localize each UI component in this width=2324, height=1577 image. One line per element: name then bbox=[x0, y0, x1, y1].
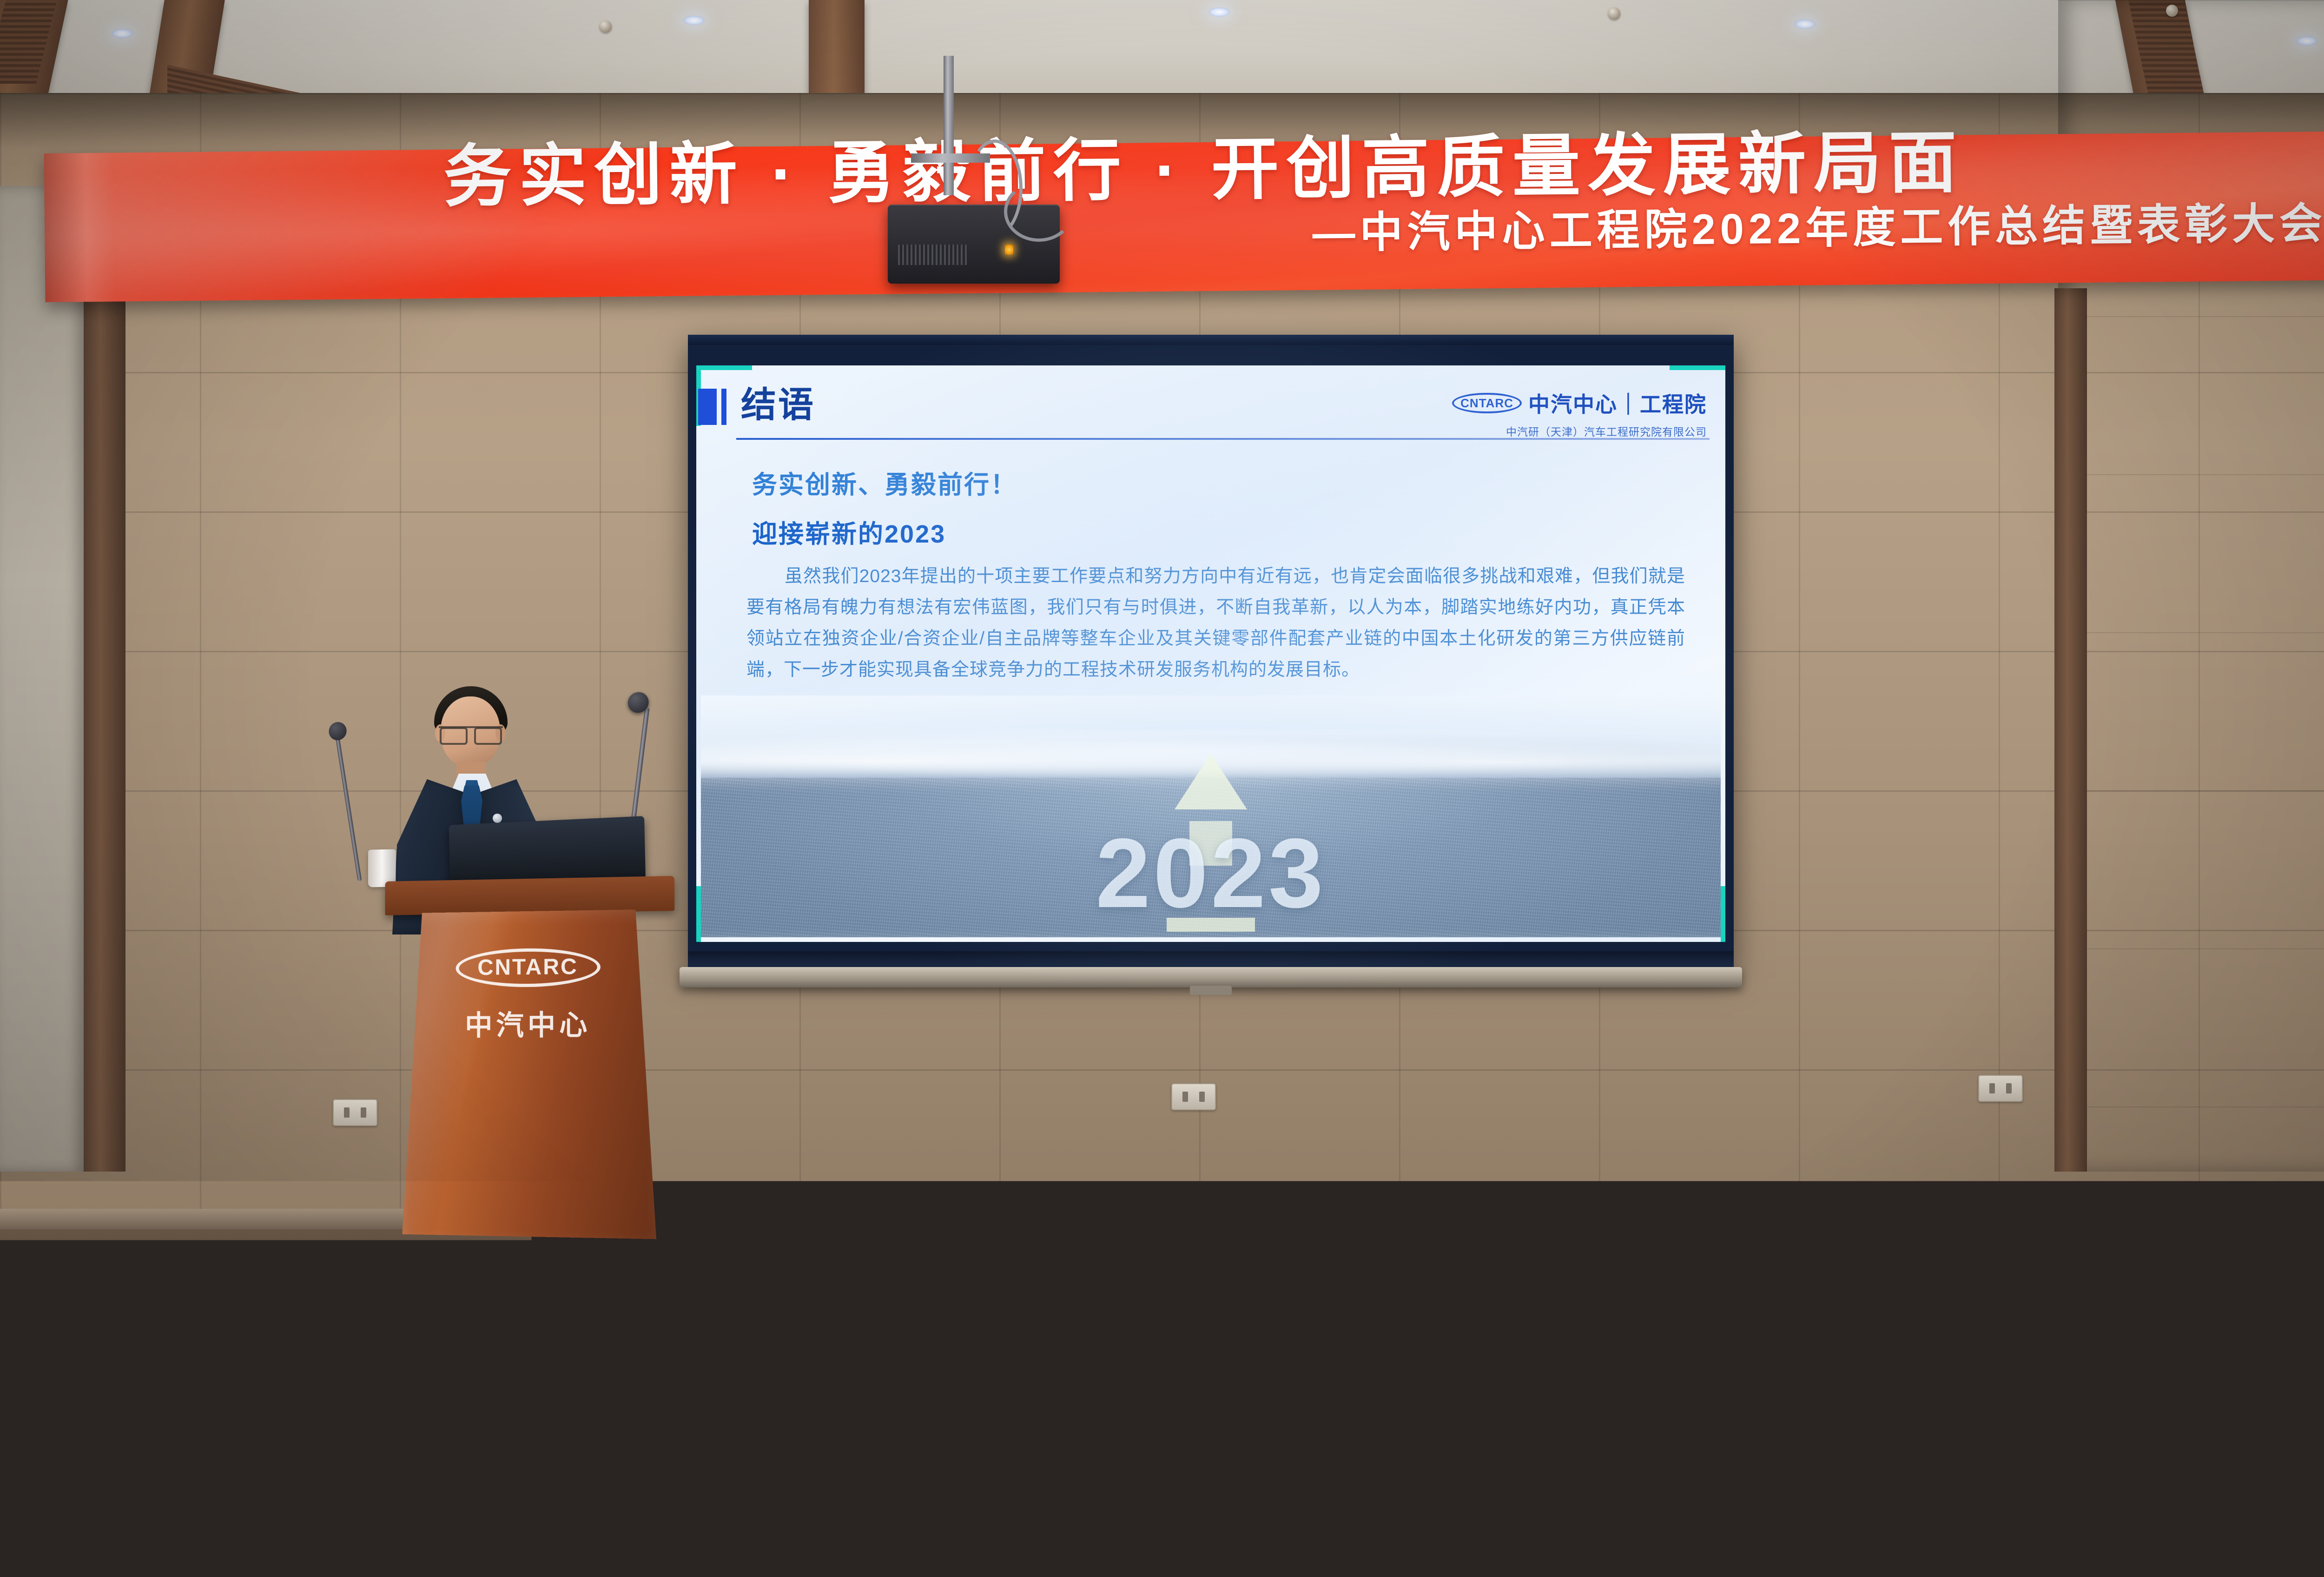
screen-top-bar bbox=[688, 335, 1734, 345]
foreground-table bbox=[0, 1260, 135, 1455]
screen-roller-housing bbox=[680, 967, 1742, 987]
speaker-lapel-pin-icon bbox=[493, 814, 502, 823]
podium-cntarc-oval-icon: CNTARC bbox=[456, 948, 600, 987]
road-forward-arrow-icon bbox=[1175, 754, 1247, 809]
ceiling-sprinkler-1 bbox=[600, 20, 612, 33]
watermark-text: 中汽中心｜工程院 bbox=[2170, 1531, 2324, 1561]
audience-head bbox=[1464, 1433, 1563, 1528]
ceiling-downlight-4 bbox=[1794, 20, 1816, 29]
seat-headrest bbox=[1053, 1329, 1317, 1345]
seat-headrest bbox=[585, 1431, 883, 1447]
water-bottle bbox=[1636, 1252, 1652, 1304]
water-bottle bbox=[786, 1463, 804, 1523]
seat-headrest bbox=[2150, 1233, 2324, 1249]
audience-head bbox=[683, 1229, 760, 1303]
water-bottle bbox=[510, 1354, 526, 1406]
slide-heading-1: 务实创新、勇毅前行！ bbox=[752, 464, 1017, 501]
table-row bbox=[2153, 1245, 2324, 1328]
banner-subline: —中汽中心工程院2022年度工作总结暨表彰大会 bbox=[45, 202, 2324, 267]
podium: CNTARC 中汽中心 bbox=[395, 876, 664, 1239]
podium-logo: CNTARC 中汽中心 bbox=[395, 947, 664, 1044]
screen-bottom-bar bbox=[688, 951, 1734, 967]
slide-header: 结语 CNTARC 中汽中心｜工程院 中汽研（天津）汽车工程研究院有限公司 bbox=[696, 383, 1710, 439]
audience-head bbox=[2106, 1339, 2189, 1417]
wall-column-left bbox=[84, 260, 125, 1172]
slide-accent-top-left bbox=[696, 365, 752, 370]
audience-head bbox=[967, 1432, 1066, 1528]
water-bottle bbox=[1673, 1353, 1689, 1405]
ceiling-sprinkler-2 bbox=[1608, 7, 1620, 20]
printed-handout bbox=[838, 1333, 905, 1426]
watermark: CNTARC 中汽中心｜工程院 bbox=[2095, 1531, 2324, 1561]
ceiling-downlight-2 bbox=[683, 16, 705, 25]
audience-head bbox=[200, 1233, 274, 1303]
printed-handout bbox=[908, 1238, 975, 1330]
face-mask-icon bbox=[2008, 1557, 2048, 1577]
conference-photo-scene: 务实创新 · 勇毅前行 · 开创高质量发展新局面 —中汽中心工程院2022年度工… bbox=[0, 0, 2324, 1577]
wall-outlet-center bbox=[1171, 1083, 1216, 1110]
ceiling-downlight-1 bbox=[112, 29, 133, 38]
wall-outlet-left bbox=[333, 1099, 377, 1126]
slide-title: 结语 bbox=[741, 387, 815, 424]
ceiling-downlight-3 bbox=[1208, 7, 1230, 17]
water-bottle bbox=[1227, 1351, 1243, 1403]
slide-accent-bottom-left bbox=[696, 886, 701, 942]
slide-accent-bottom-right bbox=[1721, 886, 1725, 942]
projector-cable-2 bbox=[1004, 181, 1074, 242]
audience-head bbox=[1422, 1323, 1508, 1406]
slide-paragraph: 虽然我们2023年提出的十项主要工作要点和努力方向中有近有远，也肯定会面临很多挑… bbox=[746, 561, 1685, 685]
slide-logo-name: 中汽中心｜工程院 bbox=[1528, 388, 1707, 418]
audience-head bbox=[1371, 1256, 1441, 1316]
road-lane-dash bbox=[1167, 918, 1255, 932]
brass-nameplate bbox=[186, 1251, 242, 1266]
seat-headrest bbox=[1187, 1431, 1485, 1447]
audience-head bbox=[1143, 1224, 1222, 1299]
audience-head bbox=[325, 1338, 404, 1411]
audience-head bbox=[1246, 1344, 1325, 1416]
printed-handout bbox=[1838, 1340, 1904, 1432]
event-banner: 务实创新 · 勇毅前行 · 开创高质量发展新局面 —中汽中心工程院2022年度工… bbox=[44, 131, 2324, 302]
seat-headrest bbox=[1909, 1233, 2146, 1249]
seat-headrest bbox=[1789, 1431, 2086, 1447]
wall-stone-left bbox=[0, 186, 84, 1172]
seat-headrest bbox=[1187, 1233, 1424, 1249]
projector-mount-rod bbox=[944, 56, 954, 195]
water-bottle bbox=[1190, 1249, 1206, 1301]
seat-headrest bbox=[1588, 1329, 1852, 1345]
screen-roller-knob bbox=[1190, 986, 1232, 995]
road-year-text: 2023 bbox=[1096, 816, 1326, 930]
slide-title-marker-thin bbox=[721, 389, 726, 425]
audience-head bbox=[1227, 1447, 1320, 1535]
audience-head bbox=[2194, 1449, 2289, 1538]
seat-headrest bbox=[465, 1233, 702, 1249]
handout-text-lines bbox=[845, 1341, 899, 1418]
handout-text-lines bbox=[1695, 1261, 1750, 1338]
slide-logo-subtitle: 中汽研（天津）汽车工程研究院有限公司 bbox=[1452, 423, 1707, 439]
audience-head bbox=[1961, 1437, 2059, 1530]
slide-accent-top-right bbox=[1670, 365, 1725, 370]
slide-title-marker bbox=[698, 389, 717, 425]
face-mask-icon bbox=[1557, 1306, 1582, 1323]
audience-head bbox=[400, 1240, 469, 1305]
seat-headrest bbox=[1669, 1233, 1906, 1249]
handout-text-lines bbox=[1844, 1347, 1898, 1424]
watermark-cntarc-oval-icon: CNTARC bbox=[2095, 1537, 2159, 1556]
projector-vent bbox=[898, 245, 968, 265]
presentation-slide: 结语 CNTARC 中汽中心｜工程院 中汽研（天津）汽车工程研究院有限公司 务实… bbox=[696, 365, 1725, 942]
audience-head bbox=[1720, 1443, 1815, 1533]
wall-outlet-right bbox=[1978, 1075, 2023, 1102]
podium-top-surface bbox=[385, 876, 675, 915]
speaker-glasses-icon bbox=[439, 726, 503, 742]
podium-laptop bbox=[449, 816, 646, 885]
audience-head bbox=[530, 1330, 614, 1410]
projection-screen: 结语 CNTARC 中汽中心｜工程院 中汽研（天津）汽车工程研究院有限公司 务实… bbox=[688, 335, 1734, 967]
table-row bbox=[468, 1245, 699, 1328]
wall-column-right bbox=[2054, 288, 2087, 1172]
slide-heading-2: 迎接崭新的2023 bbox=[752, 513, 946, 550]
audience-head bbox=[1023, 1339, 1103, 1413]
seat-headrest bbox=[1428, 1233, 1665, 1249]
seat-headrest bbox=[2090, 1431, 2324, 1447]
water-bottle bbox=[666, 1256, 681, 1308]
podium-logo-cn: 中汽中心 bbox=[395, 1002, 664, 1043]
projector-status-led bbox=[1005, 245, 1013, 255]
slide-logo: CNTARC 中汽中心｜工程院 中汽研（天津）汽车工程研究院有限公司 bbox=[1452, 388, 1707, 439]
audience-seating-area: 8 9 bbox=[0, 1190, 2324, 1577]
slide-road-photo: 2023 bbox=[701, 696, 1721, 937]
cntarc-oval-logo-icon: CNTARC bbox=[1452, 393, 1522, 414]
status-badge: 9 bbox=[1922, 1273, 1944, 1292]
ceiling bbox=[0, 0, 2324, 107]
